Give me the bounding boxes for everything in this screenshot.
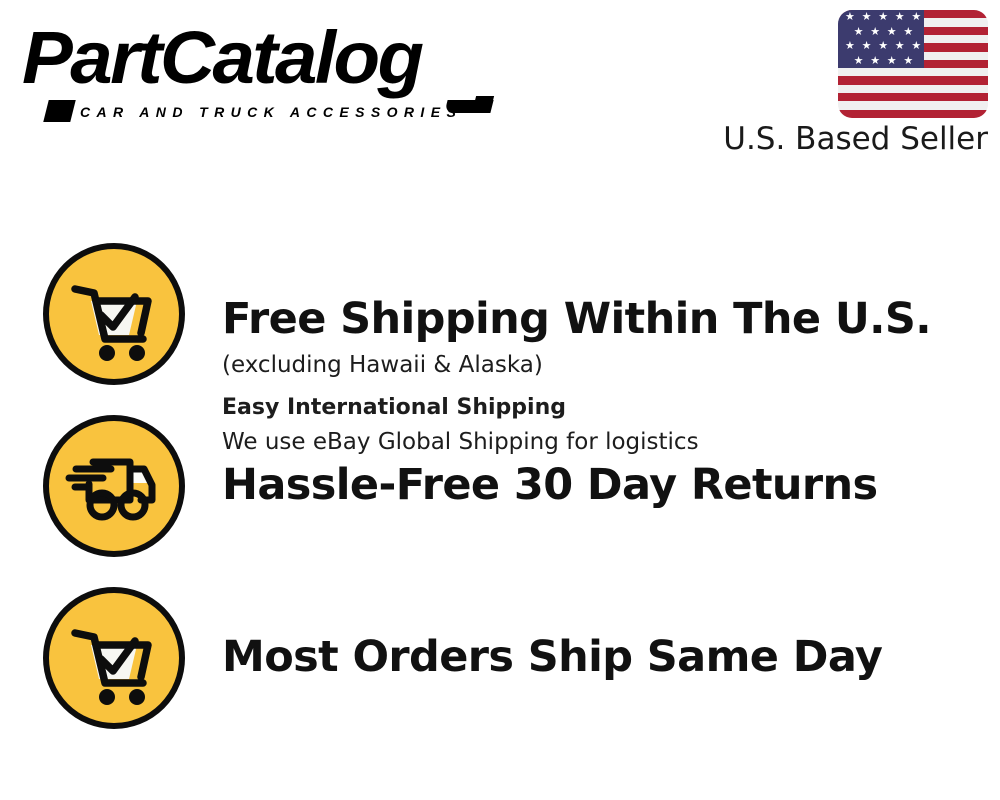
delivery-truck-icon <box>49 421 179 551</box>
flag-star: ★ <box>862 40 872 51</box>
flag-stripe <box>838 76 988 84</box>
flag-stripe <box>838 68 988 76</box>
shopping-cart-check-icon <box>49 593 179 723</box>
flag-star: ★ <box>895 11 905 22</box>
united-states-flag-icon: ★★★★★★★★★★★★★★★★★★ <box>838 10 988 118</box>
flag-star: ★ <box>845 40 855 51</box>
shopping-cart-check-icon <box>49 249 179 379</box>
flag-star: ★ <box>878 40 888 51</box>
feature-row: Most Orders Ship Same Day <box>0 581 1000 753</box>
flag-star: ★ <box>911 11 921 22</box>
feature-headline: Most Orders Ship Same Day <box>222 631 882 683</box>
flag-stripe <box>838 110 988 118</box>
flag-star: ★ <box>854 55 864 66</box>
flag-star: ★ <box>862 11 872 22</box>
feature-text-block: Most Orders Ship Same Day <box>222 581 982 733</box>
flag-star: ★ <box>911 40 921 51</box>
brand-logo: PartCatalog CAR AND TRUCK ACCESSORIES <box>22 18 492 118</box>
flag-stripe <box>838 85 988 93</box>
feature-headline: Hassle-Free 30 Day Returns <box>222 459 878 511</box>
flag-star: ★ <box>870 26 880 37</box>
flag-stripe <box>838 101 988 109</box>
feature-subtext: (excluding Hawaii & Alaska) <box>222 348 982 382</box>
brand-wordmark: PartCatalog <box>22 18 421 98</box>
flag-canton: ★★★★★★★★★★★★★★★★★★ <box>838 10 924 68</box>
feature-headline: Free Shipping Within The U.S. <box>222 293 982 345</box>
flag-stripe <box>838 93 988 101</box>
flag-star: ★ <box>903 26 913 37</box>
feature-badge <box>43 587 185 729</box>
logo-descender-left <box>43 100 75 122</box>
page-header: PartCatalog CAR AND TRUCK ACCESSORIES ★★… <box>0 0 1000 175</box>
flag-star: ★ <box>870 55 880 66</box>
flag-star: ★ <box>878 11 888 22</box>
flag-star: ★ <box>895 40 905 51</box>
feature-badge <box>43 243 185 385</box>
feature-badge <box>43 415 185 557</box>
feature-row: Free Shipping Within The U.S. (excluding… <box>0 237 1000 409</box>
flag-star: ★ <box>903 55 913 66</box>
us-based-seller-label: U.S. Based Seller <box>723 120 988 158</box>
flag-star: ★ <box>887 26 897 37</box>
flag-star: ★ <box>845 11 855 22</box>
flag-star: ★ <box>854 26 864 37</box>
feature-text-block: Hassle-Free 30 Day Returns <box>222 409 982 561</box>
brand-tagline: CAR AND TRUCK ACCESSORIES <box>80 104 462 120</box>
feature-row: Hassle-Free 30 Day Returns <box>0 409 1000 581</box>
flag-star: ★ <box>887 55 897 66</box>
